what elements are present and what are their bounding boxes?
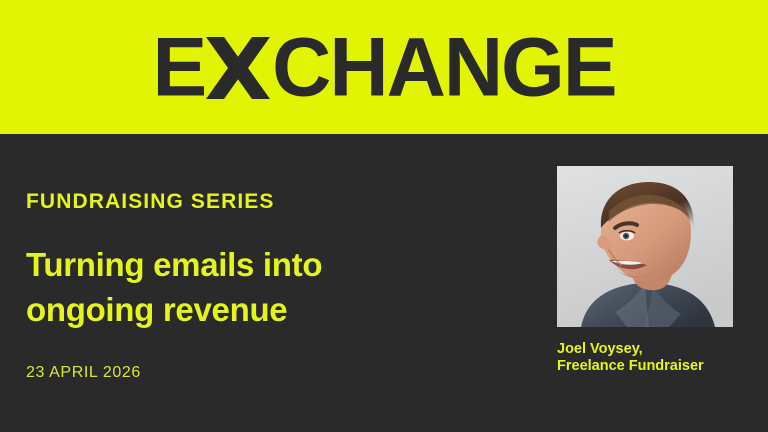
speaker-headshot (557, 166, 733, 327)
page-title: Turning emails into ongoing revenue (26, 242, 506, 332)
event-date: 23 APRIL 2026 (26, 364, 141, 382)
logo-text-before: E (152, 36, 205, 99)
speaker-name: Joel Voysey, (557, 341, 733, 358)
main-content: FUNDRAISING SERIES Turning emails into o… (0, 134, 768, 432)
speaker-role: Freelance Fundraiser (557, 358, 733, 375)
page-title-line-1: Turning emails into (26, 242, 506, 287)
exchange-logo: E CHANGE (152, 37, 615, 99)
speaker-block: Joel Voysey, Freelance Fundraiser (557, 166, 733, 375)
double-chevron-x-icon (206, 37, 270, 99)
logo-text-after: CHANGE (272, 36, 615, 99)
speaker-caption: Joel Voysey, Freelance Fundraiser (557, 341, 733, 375)
promo-slide: E CHANGE FUNDRAISING SERIES Turning emai… (0, 0, 768, 432)
brand-banner: E CHANGE (0, 0, 768, 134)
series-eyebrow: FUNDRAISING SERIES (26, 190, 275, 214)
page-title-line-2: ongoing revenue (26, 287, 506, 332)
